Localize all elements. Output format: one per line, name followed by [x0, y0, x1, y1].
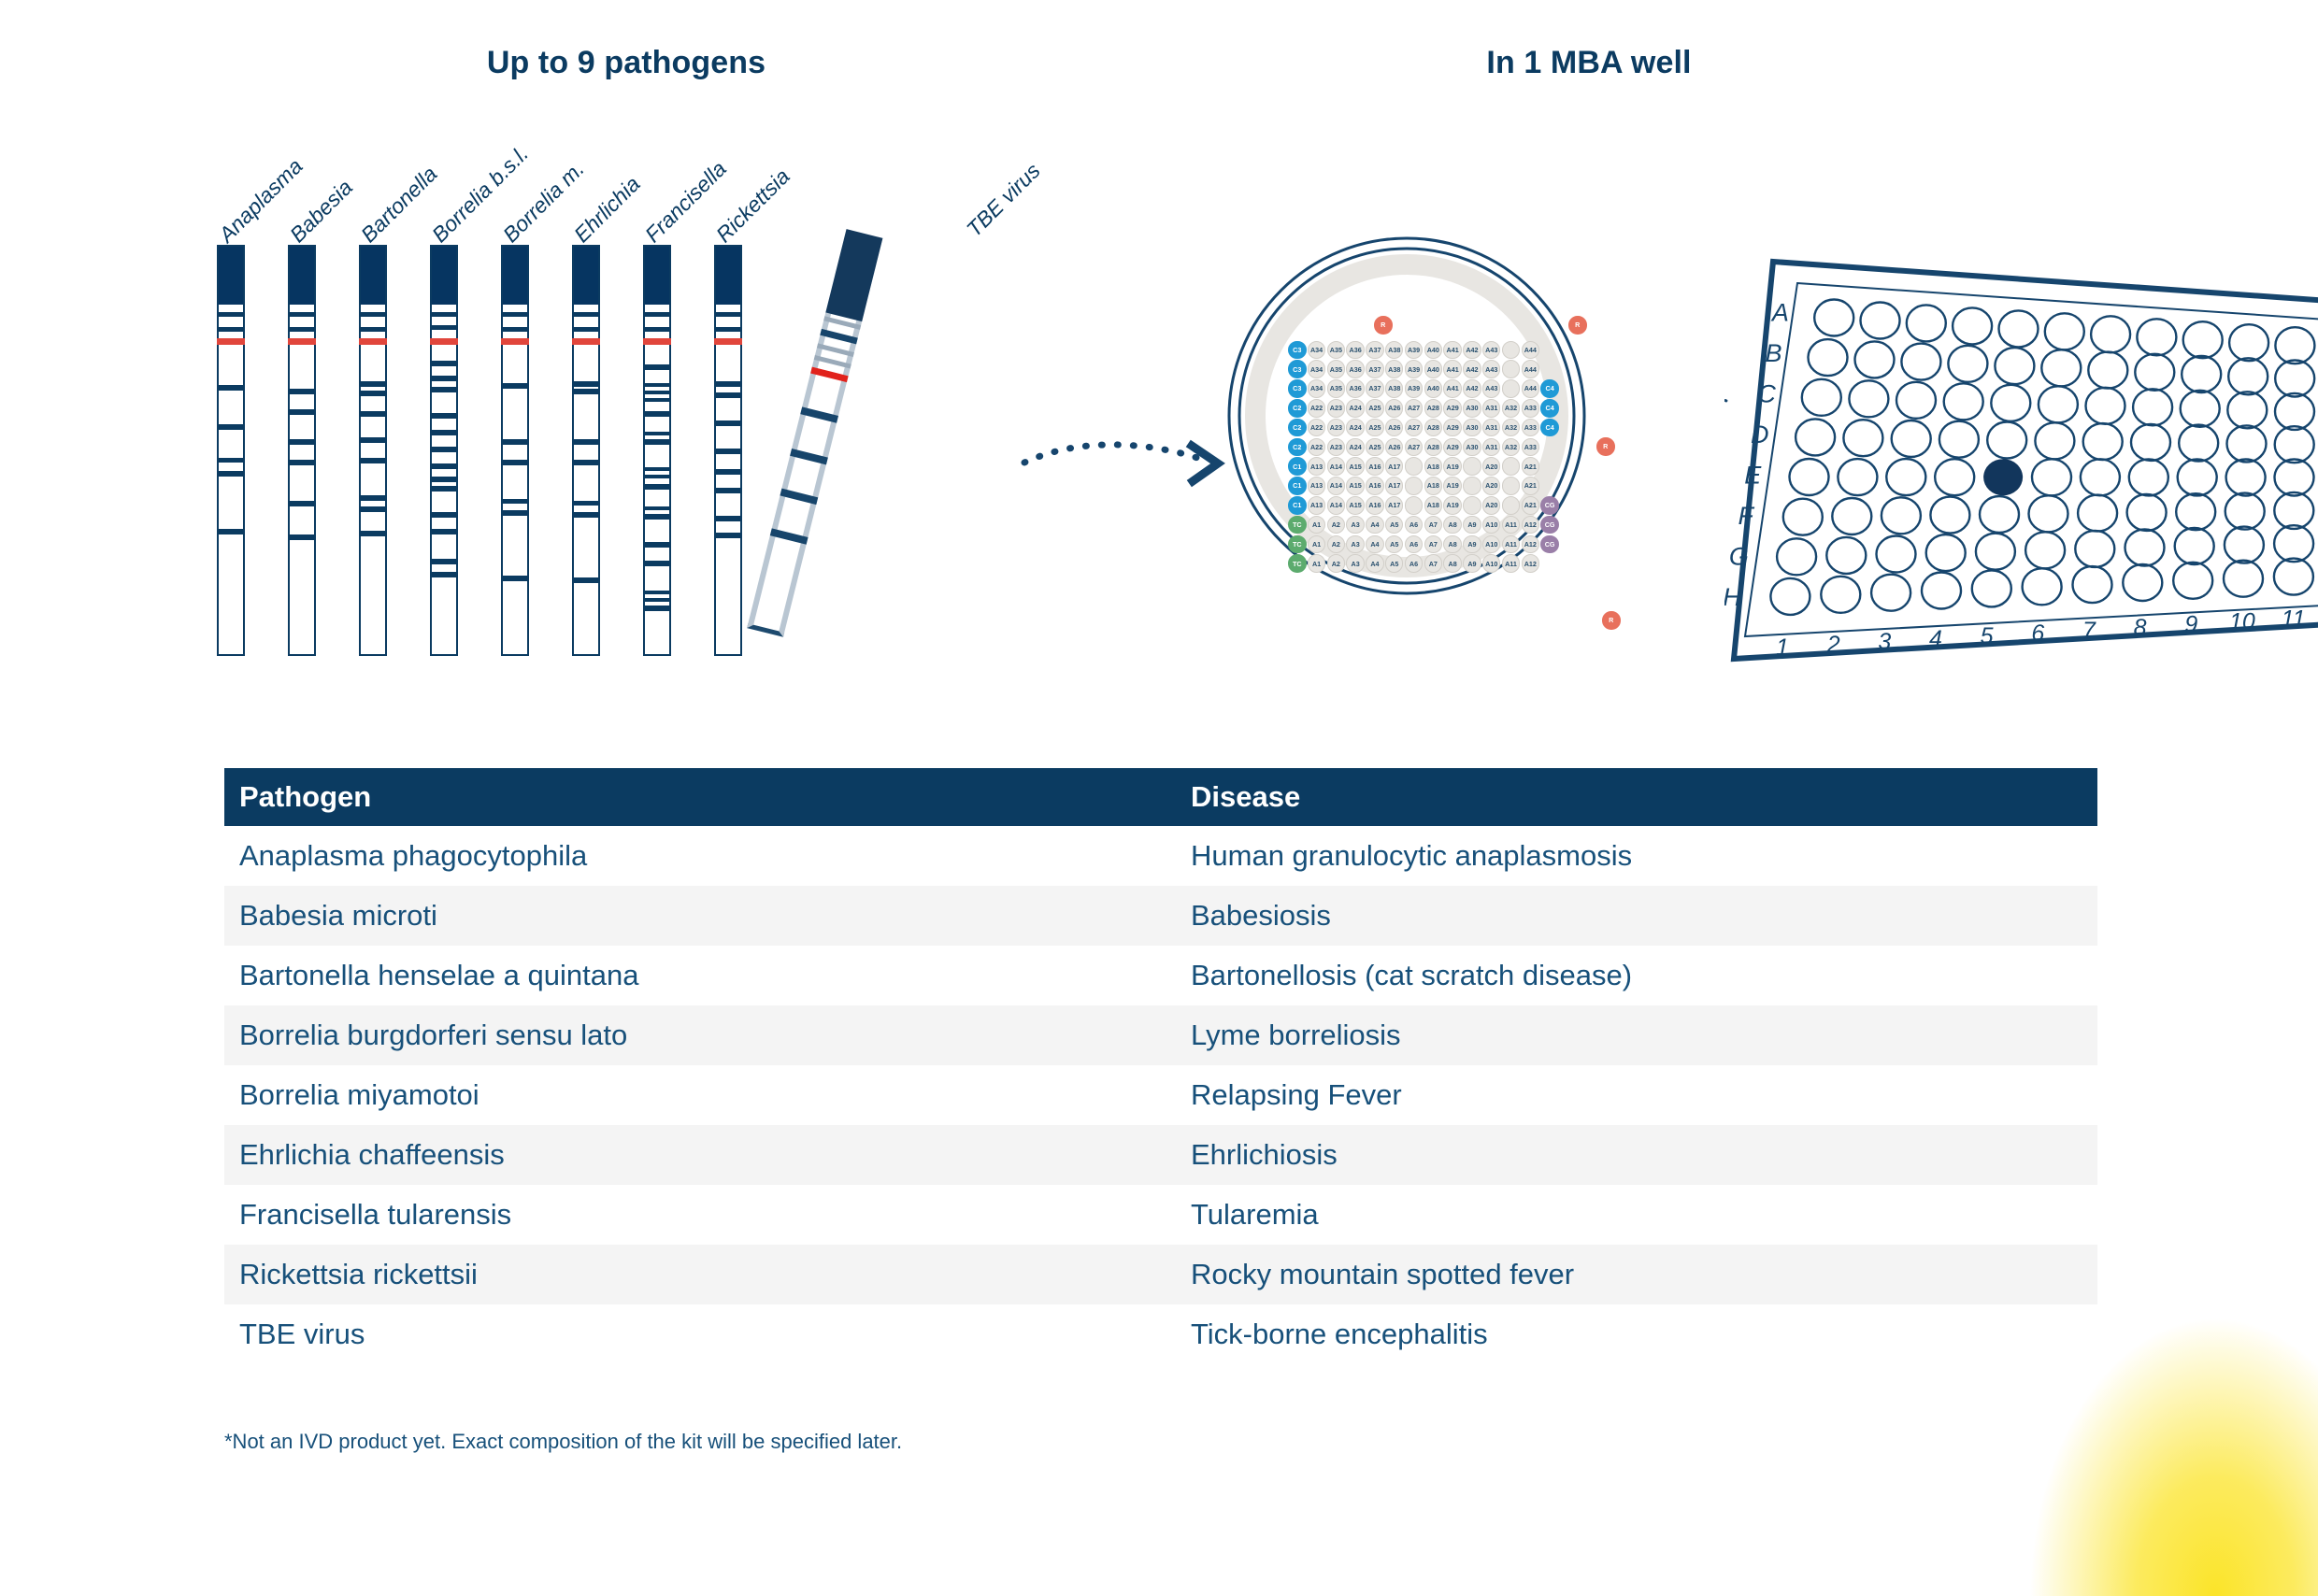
bead-A6: A6: [1405, 554, 1424, 573]
bead-array-row: TCA1A2A3A4A5A6A7A8A9A10A11A12CG: [1288, 515, 1560, 534]
cell-disease: Ehrlichiosis: [1176, 1138, 2097, 1172]
bead-A20: A20: [1482, 457, 1501, 476]
bead-array-row: C2A22A23A24A25A26A27A28A29A30A31A32A33: [1288, 437, 1560, 457]
bead-A25: A25: [1366, 399, 1384, 418]
microplate-row-label-G: G: [1729, 542, 1749, 570]
microplate-column-label-2: 2: [1826, 632, 1840, 658]
table-body: Anaplasma phagocytophilaHuman granulocyt…: [224, 826, 2097, 1364]
bead-A18: A18: [1424, 477, 1443, 495]
bead-A36: A36: [1346, 360, 1365, 378]
bead-A11: A11: [1502, 535, 1521, 554]
bead-A43: A43: [1482, 360, 1501, 378]
strip-band-control-line: [217, 338, 245, 345]
strip-cap: [825, 229, 882, 321]
strip-band: [643, 439, 671, 445]
strip-band: [288, 460, 316, 465]
bead-A14: A14: [1327, 477, 1346, 495]
microplate-column-label-9: 9: [2184, 612, 2197, 638]
bead-A36: A36: [1346, 341, 1365, 360]
bead-reference-r: R: [1596, 437, 1615, 456]
strip-band-control-line: [288, 338, 316, 345]
bead-A24: A24: [1346, 438, 1365, 457]
bead-A37: A37: [1366, 341, 1384, 360]
bead-array-row: C2A22A23A24A25A26A27A28A29A30A31A32A33C4: [1288, 398, 1560, 418]
bead-A2: A2: [1327, 554, 1346, 573]
table-header-row: Pathogen Disease: [224, 768, 2097, 826]
microplate-row-label-C: C: [1757, 380, 1776, 408]
strip-cap: [432, 247, 456, 305]
strip-band-control-line: [714, 338, 742, 345]
microplate-row-label-E: E: [1744, 462, 1762, 490]
bead-control-C2: C2: [1288, 419, 1307, 437]
strip-band: [430, 447, 458, 452]
strip-band: [714, 381, 742, 387]
bead-A42: A42: [1463, 360, 1481, 378]
bead-array-row: C3A34A35A36A37A38A39A40A41A42A43A44C4: [1288, 379, 1560, 399]
bead-A16: A16: [1366, 496, 1384, 515]
strip-band: [217, 471, 245, 477]
cell-pathogen: TBE virus: [224, 1318, 1176, 1351]
bead-A35: A35: [1327, 379, 1346, 398]
strip-band: [572, 389, 600, 394]
bead-A43: A43: [1482, 379, 1501, 398]
bead-A23: A23: [1327, 438, 1346, 457]
bead-A37: A37: [1366, 360, 1384, 378]
bead-A5: A5: [1385, 554, 1404, 573]
bead-A12: A12: [1522, 535, 1540, 554]
microplate-column-label-7: 7: [2082, 618, 2096, 644]
bead-empty: [1502, 379, 1521, 398]
bead-A35: A35: [1327, 360, 1346, 378]
bead-A5: A5: [1385, 516, 1404, 534]
bead-empty: [1502, 360, 1521, 378]
footnote-disclaimer: *Not an IVD product yet. Exact compositi…: [224, 1430, 902, 1454]
cell-pathogen: Bartonella henselae a quintana: [224, 959, 1176, 992]
bead-control-TC: TC: [1288, 516, 1307, 534]
strip-band: [359, 531, 387, 536]
strip-band: [643, 327, 671, 332]
bead-control-C2: C2: [1288, 399, 1307, 418]
bead-A34: A34: [1308, 360, 1326, 378]
bead-array-row: C1A13A14A15A16A17A18A19A20A21: [1288, 457, 1560, 477]
bead-A28: A28: [1424, 419, 1443, 437]
strip-band: [643, 383, 671, 387]
bead-A10: A10: [1482, 516, 1501, 534]
bead-control-C4: C4: [1540, 399, 1559, 418]
microplate-column-label-3: 3: [1878, 629, 1891, 655]
bead-empty: [1502, 341, 1521, 360]
strip-band: [501, 510, 529, 516]
strip-band: [572, 512, 600, 518]
microplate-row-label-A: A: [1770, 299, 1789, 327]
strip-band: [288, 534, 316, 540]
bead-A14: A14: [1327, 457, 1346, 476]
table-row: Francisella tularensisTularemia: [224, 1185, 2097, 1245]
strip-band: [643, 561, 671, 566]
strip-band: [359, 391, 387, 396]
bead-A33: A33: [1522, 438, 1540, 457]
bead-A37: A37: [1366, 379, 1384, 398]
bead-A24: A24: [1346, 419, 1365, 437]
microplate-row-label-F: F: [1738, 502, 1755, 530]
bead-empty: [1405, 496, 1424, 515]
bead-control-C1: C1: [1288, 457, 1307, 476]
strip-band: [714, 469, 742, 475]
strip-band: [572, 460, 600, 465]
microplate-96-well: ABCDEFGH123456789101112: [1724, 229, 2318, 668]
strip-cap: [503, 247, 527, 305]
cell-pathogen: Francisella tularensis: [224, 1198, 1176, 1232]
table-row: TBE virusTick-borne encephalitis: [224, 1304, 2097, 1364]
strip-band: [643, 398, 671, 402]
strip-band: [714, 533, 742, 538]
bead-A12: A12: [1522, 516, 1540, 534]
strip-band: [572, 439, 600, 445]
table-row: Rickettsia rickettsiiRocky mountain spot…: [224, 1245, 2097, 1304]
bead-A25: A25: [1366, 419, 1384, 437]
bead-control-CG: CG: [1540, 516, 1559, 534]
bead-A44: A44: [1522, 360, 1540, 378]
cell-pathogen: Borrelia burgdorferi sensu lato: [224, 1019, 1176, 1052]
strip-band: [643, 364, 671, 370]
bead-A9: A9: [1463, 535, 1481, 554]
bead-A26: A26: [1385, 399, 1404, 418]
strip-band: [217, 458, 245, 463]
strip-cap: [574, 247, 598, 305]
bead-A17: A17: [1385, 477, 1404, 495]
bead-array-row: TCA1A2A3A4A5A6A7A8A9A10A11A12CG: [1288, 534, 1560, 554]
bead-A11: A11: [1502, 554, 1521, 573]
bead-A21: A21: [1522, 496, 1540, 515]
bead-A17: A17: [1385, 457, 1404, 476]
strip-band: [359, 327, 387, 332]
bead-A8: A8: [1443, 516, 1462, 534]
strip-band: [430, 529, 458, 534]
strip-band: [359, 495, 387, 501]
cell-pathogen: Babesia microti: [224, 899, 1176, 933]
bead-A9: A9: [1463, 516, 1481, 534]
strip-band: [217, 327, 245, 332]
microplate-row-label-D: D: [1751, 420, 1769, 449]
strip-band: [430, 387, 458, 392]
strip-band: [714, 392, 742, 398]
bead-A42: A42: [1463, 341, 1481, 360]
strip-band: [217, 312, 245, 317]
strip-band: [643, 467, 671, 471]
bead-A39: A39: [1405, 360, 1424, 378]
strip-band: [572, 327, 600, 332]
strip-band: [430, 361, 458, 366]
microplate-column-label-8: 8: [2134, 615, 2147, 641]
bead-A26: A26: [1385, 419, 1404, 437]
strip-band: [430, 559, 458, 564]
lateral-flow-strip-rickettsia: [714, 245, 742, 656]
cell-pathogen: Anaplasma phagocytophila: [224, 839, 1176, 873]
bead-A29: A29: [1443, 419, 1462, 437]
strip-band: [501, 439, 529, 445]
bead-A26: A26: [1385, 438, 1404, 457]
bead-control-C3: C3: [1288, 360, 1307, 378]
bead-reference-r: R: [1602, 611, 1621, 630]
bead-A15: A15: [1346, 477, 1365, 495]
bead-A41: A41: [1443, 341, 1462, 360]
bead-A31: A31: [1482, 438, 1501, 457]
microplate-well-highlighted: [1983, 459, 2023, 495]
strip-band: [430, 413, 458, 419]
strip-cap: [645, 247, 669, 305]
bead-empty: [1463, 477, 1481, 495]
bead-A35: A35: [1327, 341, 1346, 360]
bead-control-CG: CG: [1540, 535, 1559, 554]
bead-A28: A28: [1424, 399, 1443, 418]
microplate-row-label-H: H: [1724, 583, 1741, 611]
table-row: Borrelia burgdorferi sensu latoLyme borr…: [224, 1005, 2097, 1065]
strip-cap: [361, 247, 385, 305]
bead-control-C1: C1: [1288, 477, 1307, 495]
bead-A10: A10: [1482, 554, 1501, 573]
strip-band: [643, 312, 671, 317]
bead-A22: A22: [1308, 399, 1326, 418]
strip-band-control-line: [359, 338, 387, 345]
microplate-column-label-5: 5: [1981, 623, 1994, 649]
bead-A30: A30: [1463, 399, 1481, 418]
bead-A27: A27: [1405, 419, 1424, 437]
bead-control-C4: C4: [1540, 379, 1559, 398]
cell-disease: Tularemia: [1176, 1198, 2097, 1232]
bead-control-TC: TC: [1288, 535, 1307, 554]
bead-A30: A30: [1463, 438, 1481, 457]
bead-A1: A1: [1308, 554, 1326, 573]
strip-band-control-line: [643, 338, 671, 345]
bead-A32: A32: [1502, 438, 1521, 457]
cell-pathogen: Rickettsia rickettsii: [224, 1258, 1176, 1291]
microplate-column-label-6: 6: [2031, 620, 2044, 647]
heading-in-1-mba-well: In 1 MBA well: [1486, 45, 1691, 81]
table-row: Babesia microtiBabesiosis: [224, 886, 2097, 946]
bead-A33: A33: [1522, 419, 1540, 437]
strip-band: [643, 484, 671, 490]
cell-disease: Tick-borne encephalitis: [1176, 1318, 2097, 1351]
strip-band: [643, 542, 671, 548]
strip-band: [643, 598, 671, 602]
bead-A7: A7: [1424, 516, 1443, 534]
bead-A18: A18: [1424, 457, 1443, 476]
table-row: Bartonella henselae a quintanaBartonello…: [224, 946, 2097, 1005]
pathogen-disease-table: Pathogen Disease Anaplasma phagocytophil…: [224, 768, 2097, 1364]
strip-band: [643, 432, 671, 435]
bead-empty: [1502, 496, 1521, 515]
bead-A2: A2: [1327, 516, 1346, 534]
bead-A41: A41: [1443, 360, 1462, 378]
bead-empty: [1502, 477, 1521, 495]
bead-A10: A10: [1482, 535, 1501, 554]
bead-A5: A5: [1385, 535, 1404, 554]
bead-control-C1: C1: [1288, 496, 1307, 515]
lateral-flow-strip-ehrlichia: [572, 245, 600, 656]
strip-band: [288, 501, 316, 506]
cell-disease: Babesiosis: [1176, 899, 2097, 933]
bead-A22: A22: [1308, 438, 1326, 457]
bead-A40: A40: [1424, 360, 1443, 378]
bead-A1: A1: [1308, 516, 1326, 534]
bead-A17: A17: [1385, 496, 1404, 515]
strip-band: [501, 312, 529, 317]
bead-array-row: C3A34A35A36A37A38A39A40A41A42A43A44: [1288, 360, 1560, 379]
table-row: Anaplasma phagocytophilaHuman granulocyt…: [224, 826, 2097, 886]
lateral-flow-strip-tbe-virus: [747, 229, 882, 637]
bead-A13: A13: [1308, 496, 1326, 515]
column-header-pathogen: Pathogen: [224, 780, 1176, 814]
bead-A24: A24: [1346, 399, 1365, 418]
microplate-column-label-4: 4: [1929, 626, 1942, 652]
bead-A16: A16: [1366, 457, 1384, 476]
strip-cap: [219, 247, 243, 305]
bead-reference-r: R: [1568, 316, 1587, 335]
bead-array-grid: C3A34A35A36A37A38A39A40A41A42A43A44C3A34…: [1288, 340, 1560, 574]
bead-A9: A9: [1463, 554, 1481, 573]
bead-control-C4: C4: [1540, 419, 1559, 437]
cell-disease: Rocky mountain spotted fever: [1176, 1258, 2097, 1291]
bead-A8: A8: [1443, 535, 1462, 554]
strip-band: [430, 512, 458, 518]
strip-band: [217, 529, 245, 534]
microplate-column-label-10: 10: [2229, 609, 2255, 635]
bead-A14: A14: [1327, 496, 1346, 515]
bead-A40: A40: [1424, 341, 1443, 360]
bead-A31: A31: [1482, 419, 1501, 437]
bead-A38: A38: [1385, 360, 1404, 378]
strip-band: [643, 411, 671, 417]
strip-band: [288, 312, 316, 317]
strip-band: [643, 506, 671, 510]
bead-A20: A20: [1482, 496, 1501, 515]
strip-band: [430, 325, 458, 330]
bead-A7: A7: [1424, 554, 1443, 573]
strip-band: [643, 391, 671, 394]
strip-band: [714, 449, 742, 454]
strip-cap: [290, 247, 314, 305]
bead-A23: A23: [1327, 399, 1346, 418]
strip-band: [643, 606, 671, 611]
strip-band: [217, 424, 245, 430]
bead-A36: A36: [1346, 379, 1365, 398]
strip-band: [359, 411, 387, 417]
bead-A34: A34: [1308, 341, 1326, 360]
bead-array-row: TCA1A2A3A4A5A6A7A8A9A10A11A12: [1288, 554, 1560, 574]
bead-control-C3: C3: [1288, 379, 1307, 398]
heading-up-to-9-pathogens: Up to 9 pathogens: [487, 45, 766, 81]
bead-A39: A39: [1405, 379, 1424, 398]
strip-label-bartonella: Bartonella: [356, 162, 442, 248]
bead-control-C3: C3: [1288, 341, 1307, 360]
bead-A3: A3: [1346, 535, 1365, 554]
strip-band: [572, 312, 600, 317]
strip-band: [501, 499, 529, 504]
bead-A32: A32: [1502, 419, 1521, 437]
bead-A33: A33: [1522, 399, 1540, 418]
lateral-flow-strip-anaplasma: [217, 245, 245, 656]
bead-A13: A13: [1308, 477, 1326, 495]
strip-band: [430, 477, 458, 482]
mba-well-magnifier: C3A34A35A36A37A38A39A40A41A42A43A44C3A34…: [1224, 234, 1589, 598]
bead-A15: A15: [1346, 496, 1365, 515]
strip-band: [501, 576, 529, 581]
lateral-flow-strip-bartonella: [359, 245, 387, 656]
lateral-flow-strip-francisella: [643, 245, 671, 656]
strip-band-control-line: [430, 338, 458, 345]
strip-band: [714, 488, 742, 493]
bead-A40: A40: [1424, 379, 1443, 398]
bead-A8: A8: [1443, 554, 1462, 573]
cell-disease: Relapsing Fever: [1176, 1078, 2097, 1112]
strip-band: [643, 514, 671, 520]
bead-A6: A6: [1405, 535, 1424, 554]
bead-A19: A19: [1443, 496, 1462, 515]
bead-A27: A27: [1405, 438, 1424, 457]
bead-A44: A44: [1522, 379, 1540, 398]
strip-band: [359, 381, 387, 387]
strip-band: [714, 327, 742, 332]
strip-band: [714, 516, 742, 521]
strip-band: [359, 506, 387, 512]
strip-band: [430, 486, 458, 492]
bead-A34: A34: [1308, 379, 1326, 398]
lateral-flow-strip-borrelia-m: [501, 245, 529, 656]
strip-band: [643, 475, 671, 478]
bead-A11: A11: [1502, 516, 1521, 534]
bead-A29: A29: [1443, 399, 1462, 418]
table-row: Borrelia miyamotoiRelapsing Fever: [224, 1065, 2097, 1125]
bead-A19: A19: [1443, 457, 1462, 476]
lateral-flow-strip-borrelia-b-s-l: [430, 245, 458, 656]
strip-band-control-line: [572, 338, 600, 345]
strip-band: [288, 389, 316, 394]
strip-band: [501, 383, 529, 389]
bead-A3: A3: [1346, 554, 1365, 573]
bead-A29: A29: [1443, 438, 1462, 457]
cell-disease: Lyme borreliosis: [1176, 1019, 2097, 1052]
bead-A23: A23: [1327, 419, 1346, 437]
bead-A21: A21: [1522, 457, 1540, 476]
strip-band: [430, 376, 458, 381]
bead-A28: A28: [1424, 438, 1443, 457]
bead-array-row: C2A22A23A24A25A26A27A28A29A30A31A32A33C4: [1288, 418, 1560, 437]
bead-reference-r: R: [1374, 316, 1393, 335]
cell-pathogen: Borrelia miyamotoi: [224, 1078, 1176, 1112]
bead-A4: A4: [1366, 516, 1384, 534]
bead-A27: A27: [1405, 399, 1424, 418]
bead-A4: A4: [1366, 554, 1384, 573]
cell-disease: Human granulocytic anaplasmosis: [1176, 839, 2097, 873]
bead-empty: [1502, 457, 1521, 476]
strip-band: [643, 591, 671, 594]
strip-band: [288, 409, 316, 415]
bead-A13: A13: [1308, 457, 1326, 476]
bead-A39: A39: [1405, 341, 1424, 360]
strip-band-control-line: [501, 338, 529, 345]
strip-band: [430, 430, 458, 435]
bead-empty: [1405, 477, 1424, 495]
bead-A31: A31: [1482, 399, 1501, 418]
strip-band: [501, 327, 529, 332]
bead-A7: A7: [1424, 535, 1443, 554]
bead-A30: A30: [1463, 419, 1481, 437]
cell-disease: Bartonellosis (cat scratch disease): [1176, 959, 2097, 992]
bead-A21: A21: [1522, 477, 1540, 495]
bead-A42: A42: [1463, 379, 1481, 398]
bead-A22: A22: [1308, 419, 1326, 437]
bead-A32: A32: [1502, 399, 1521, 418]
